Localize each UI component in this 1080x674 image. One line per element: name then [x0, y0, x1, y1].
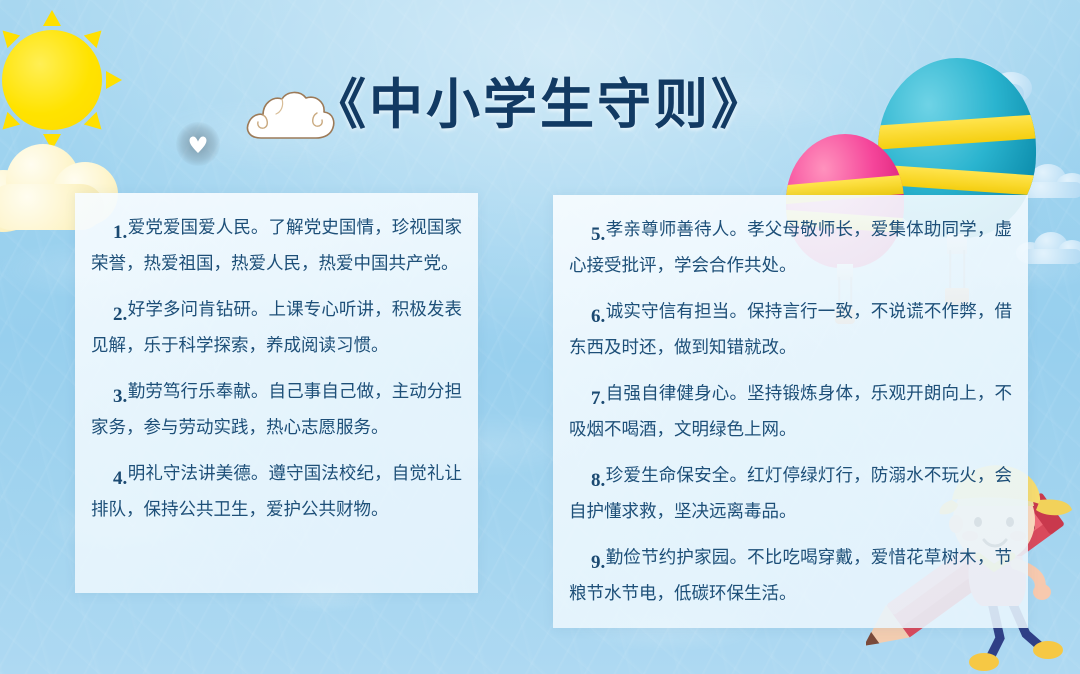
rule-text: 勤劳笃行乐奉献。自己事自己做，主动分担家务，参与劳动实践，热心志愿服务。	[91, 381, 462, 437]
rule-number: 6.	[591, 299, 605, 335]
rule-item: 4. 明礼守法讲美德。遵守国法校纪，自觉礼让排队，保持公共卫生，爱护公共财物。	[91, 455, 462, 527]
rules-list-right: 5. 孝亲尊师善待人。孝父母敬师长，爱集体助同学，虚心接受批评，学会合作共处。 …	[553, 195, 1028, 621]
rules-panel-left: 1. 爱党爱国爱人民。了解党史国情，珍视国家荣誉，热爱祖国，热爱人民，热爱中国共…	[75, 193, 478, 593]
rule-text: 自强自律健身心。坚持锻炼身体，乐观开朗向上，不吸烟不喝酒，文明绿色上网。	[569, 383, 1012, 439]
rule-text: 珍爱生命保安全。红灯停绿灯行，防溺水不玩火，会自护懂求救，坚决远离毒品。	[569, 465, 1012, 521]
rule-number: 5.	[591, 217, 605, 253]
rule-item: 1. 爱党爱国爱人民。了解党史国情，珍视国家荣誉，热爱祖国，热爱人民，热爱中国共…	[91, 209, 462, 281]
rule-item: 3. 勤劳笃行乐奉献。自己事自己做，主动分担家务，参与劳动实践，热心志愿服务。	[91, 373, 462, 445]
rule-text: 好学多问肯钻研。上课专心听讲，积极发表见解，乐于科学探索，养成阅读习惯。	[91, 299, 462, 355]
rule-number: 1.	[113, 215, 127, 251]
rule-text: 爱党爱国爱人民。了解党史国情，珍视国家荣誉，热爱祖国，热爱人民，热爱中国共产党。	[91, 217, 462, 273]
rule-number: 8.	[591, 463, 605, 499]
rule-number: 3.	[113, 379, 127, 415]
rule-text: 勤俭节约护家园。不比吃喝穿戴，爱惜花草树木，节粮节水节电，低碳环保生活。	[569, 547, 1012, 603]
rule-item: 7. 自强自律健身心。坚持锻炼身体，乐观开朗向上，不吸烟不喝酒，文明绿色上网。	[569, 375, 1012, 447]
poster-canvas: B	[0, 0, 1080, 674]
rule-item: 2. 好学多问肯钻研。上课专心听讲，积极发表见解，乐于科学探索，养成阅读习惯。	[91, 291, 462, 363]
page-title: 《中小学生守则》	[0, 60, 1080, 139]
rule-item: 9. 勤俭节约护家园。不比吃喝穿戴，爱惜花草树木，节粮节水节电，低碳环保生活。	[569, 539, 1012, 611]
rule-number: 9.	[591, 545, 605, 581]
rule-number: 7.	[591, 381, 605, 417]
rule-number: 2.	[113, 297, 127, 333]
rules-panel-right: 5. 孝亲尊师善待人。孝父母敬师长，爱集体助同学，虚心接受批评，学会合作共处。 …	[553, 195, 1028, 628]
rule-number: 4.	[113, 461, 127, 497]
rule-text: 孝亲尊师善待人。孝父母敬师长，爱集体助同学，虚心接受批评，学会合作共处。	[569, 219, 1012, 275]
rule-item: 6. 诚实守信有担当。保持言行一致，不说谎不作弊，借东西及时还，做到知错就改。	[569, 293, 1012, 365]
rule-item: 5. 孝亲尊师善待人。孝父母敬师长，爱集体助同学，虚心接受批评，学会合作共处。	[569, 211, 1012, 283]
rules-list-left: 1. 爱党爱国爱人民。了解党史国情，珍视国家荣誉，热爱祖国，热爱人民，热爱中国共…	[75, 193, 478, 537]
rule-item: 8. 珍爱生命保安全。红灯停绿灯行，防溺水不玩火，会自护懂求救，坚决远离毒品。	[569, 457, 1012, 529]
rule-text: 明礼守法讲美德。遵守国法校纪，自觉礼让排队，保持公共卫生，爱护公共财物。	[91, 463, 462, 519]
rule-text: 诚实守信有担当。保持言行一致，不说谎不作弊，借东西及时还，做到知错就改。	[569, 301, 1012, 357]
